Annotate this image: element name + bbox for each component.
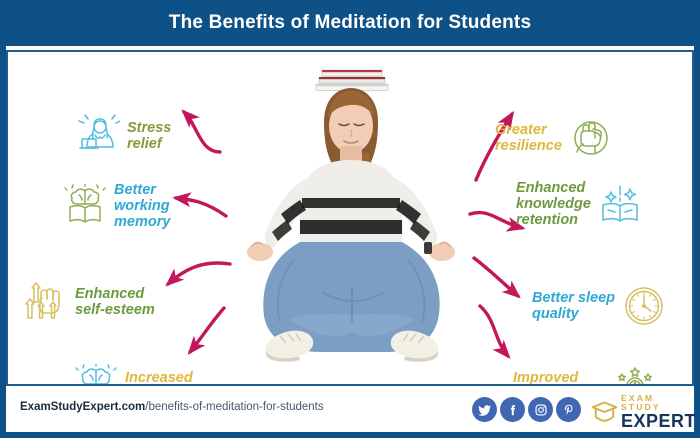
footer-url-path: /benefits-of-meditation-for-students [145,401,323,413]
benefit-label-enhanced-knowledge-retention: Enhanced knowledge retention [516,180,591,229]
facebook-icon[interactable] [500,397,525,422]
graduation-cap-icon [591,398,618,426]
benefit-better-sleep-quality: Better sleep quality [532,284,666,328]
benefit-label-stress-relief: Stress relief [127,120,171,152]
header-bar: The Benefits of Meditation for Students [0,0,700,46]
open-book-sparkles-icon [598,182,642,226]
brain-book-icon [63,184,107,228]
footer-url[interactable]: ExamStudyExpert.com/benefits-of-meditati… [20,401,324,413]
brand-logo[interactable]: EXAM STUDY EXPERT [591,395,696,429]
benefit-better-working-memory: Better working memory [63,182,170,231]
stressed-student-laptop-icon [76,114,120,158]
benefit-label-improved-mental-health: Improved mental health [513,370,606,386]
infographic-root: The Benefits of Meditation for Students [0,0,700,438]
twitter-icon[interactable] [472,397,497,422]
benefit-label-greater-resilience: Greater resilience [495,122,562,154]
logo-top-text: EXAM STUDY [621,394,696,411]
benefit-label-enhanced-self-esteem: Enhanced self-esteem [75,286,155,318]
instagram-icon[interactable] [528,397,553,422]
logo-bottom-text: EXPERT [621,412,696,430]
benefit-enhanced-self-esteem: Enhanced self-esteem [24,280,155,324]
benefit-stress-relief: Stress relief [76,114,171,158]
infographic-canvas: Stress relief Better working memory [6,50,694,386]
meditating-student-photo [236,60,466,382]
benefit-greater-resilience: Greater resilience [495,116,613,160]
page-title: The Benefits of Meditation for Students [169,12,531,34]
footer-url-domain: ExamStudyExpert.com [20,401,145,413]
brain-book-focus-icon [74,364,118,386]
raised-fist-arrows-icon [24,280,68,324]
strong-fist-shield-icon [569,116,613,160]
hands-holding-star-medal-icon [613,364,657,386]
clock-icon [622,284,666,328]
footer-bar: ExamStudyExpert.com/benefits-of-meditati… [6,390,694,432]
social-links [472,397,581,422]
benefit-increased-attention: Increased attention [74,364,193,386]
pinterest-icon[interactable] [556,397,581,422]
benefit-enhanced-knowledge-retention: Enhanced knowledge retention [516,180,642,229]
benefit-label-better-working-memory: Better working memory [114,182,170,231]
benefit-improved-mental-health: Improved mental health [513,364,657,386]
benefit-label-better-sleep-quality: Better sleep quality [532,290,615,322]
benefit-label-increased-attention: Increased attention [125,370,193,386]
